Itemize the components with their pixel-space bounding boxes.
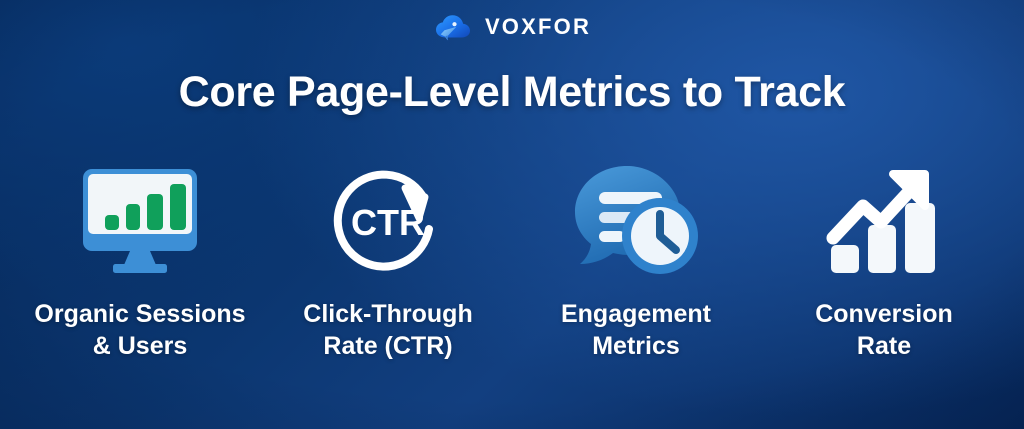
infographic-banner: VOXFOR Core Page-Level Metrics to Track … bbox=[0, 0, 1024, 429]
metric-card-organic-sessions: Organic Sessions & Users bbox=[18, 160, 262, 362]
brand-logo: VOXFOR bbox=[0, 11, 1024, 43]
metric-card-label: Conversion Rate bbox=[815, 298, 953, 362]
speech-bubble-clock-icon bbox=[566, 160, 706, 282]
page-title: Core Page-Level Metrics to Track bbox=[0, 68, 1024, 117]
circular-arrow-ctr-icon: CTR bbox=[326, 160, 450, 282]
metric-card-engagement-metrics: Engagement Metrics bbox=[514, 160, 758, 362]
monitor-bar-chart-icon bbox=[75, 160, 205, 282]
metric-card-label: Click-Through Rate (CTR) bbox=[303, 298, 472, 362]
growth-arrow-bars-icon bbox=[823, 160, 945, 282]
brand-name: VOXFOR bbox=[485, 16, 591, 38]
metric-card-conversion-rate: Conversion Rate bbox=[762, 160, 1006, 362]
metrics-card-row: Organic Sessions & Users CTR Click-Throu… bbox=[18, 160, 1006, 362]
metric-card-label: Organic Sessions & Users bbox=[34, 298, 245, 362]
cloud-paper-plane-icon bbox=[433, 11, 475, 43]
ctr-icon-text: CTR bbox=[351, 202, 425, 243]
metric-card-label: Engagement Metrics bbox=[561, 298, 711, 362]
metric-card-click-through-rate: CTR Click-Through Rate (CTR) bbox=[266, 160, 510, 362]
